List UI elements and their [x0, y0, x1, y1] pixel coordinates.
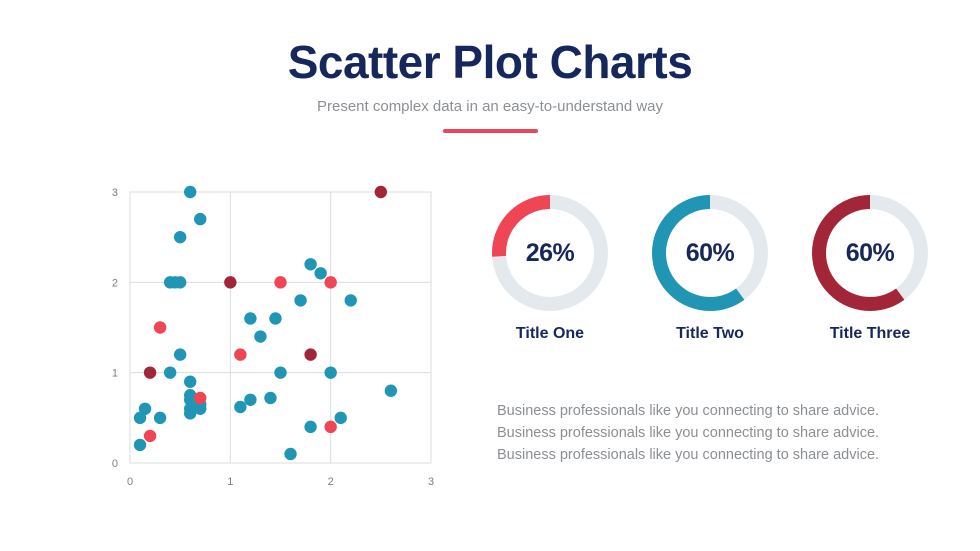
scatter-point — [164, 366, 176, 378]
scatter-point — [335, 412, 347, 424]
scatter-point — [154, 321, 166, 333]
plot-frame — [130, 192, 431, 463]
scatter-point — [184, 186, 196, 198]
page-subtitle: Present complex data in an easy-to-under… — [0, 86, 980, 115]
scatter-point — [385, 385, 397, 397]
scatter-point — [274, 276, 286, 288]
scatter-plot-svg: 01230123 — [100, 170, 460, 500]
scatter-point — [144, 430, 156, 442]
donut-chart-row: 26%Title One60%Title Two60%Title Three — [480, 195, 940, 360]
donut-ring: 26% — [492, 195, 608, 311]
scatter-chart: 01230123 — [100, 170, 460, 500]
scatter-point — [304, 258, 316, 270]
donut-ring: 60% — [812, 195, 928, 311]
scatter-point — [194, 392, 206, 404]
x-axis-tick-label: 0 — [127, 476, 133, 488]
slide-header: Scatter Plot Charts Present complex data… — [0, 0, 980, 133]
scatter-point — [134, 412, 146, 424]
scatter-point — [174, 231, 186, 243]
x-axis-tick-label: 3 — [428, 476, 434, 488]
scatter-point — [244, 394, 256, 406]
donut-chart-1[interactable]: 26%Title One — [480, 195, 620, 360]
donut-chart-2[interactable]: 60%Title Two — [640, 195, 780, 360]
scatter-point — [294, 294, 306, 306]
scatter-point — [269, 312, 281, 324]
scatter-point — [375, 186, 387, 198]
donut-chart-3[interactable]: 60%Title Three — [800, 195, 940, 360]
scatter-point — [174, 276, 186, 288]
scatter-point — [324, 421, 336, 433]
y-axis-tick-label: 0 — [112, 458, 118, 470]
scatter-point — [254, 330, 266, 342]
scatter-point — [194, 213, 206, 225]
scatter-point — [224, 276, 236, 288]
scatter-point — [244, 312, 256, 324]
scatter-point — [174, 348, 186, 360]
scatter-point — [345, 294, 357, 306]
scatter-point — [184, 376, 196, 388]
donut-percent-label: 60% — [812, 195, 928, 311]
scatter-point — [184, 407, 196, 419]
scatter-point — [264, 392, 276, 404]
x-axis-tick-label: 1 — [227, 476, 233, 488]
donut-percent-label: 60% — [652, 195, 768, 311]
scatter-point — [144, 366, 156, 378]
donut-ring: 60% — [652, 195, 768, 311]
donut-title-label: Title One — [480, 325, 620, 343]
scatter-point — [234, 348, 246, 360]
scatter-point — [154, 412, 166, 424]
scatter-point — [324, 366, 336, 378]
body-paragraph: Business professionals like you connecti… — [497, 400, 889, 467]
donut-title-label: Title Two — [640, 325, 780, 343]
scatter-point — [314, 267, 326, 279]
donut-title-label: Title Three — [800, 325, 940, 343]
scatter-point — [284, 448, 296, 460]
scatter-point — [304, 421, 316, 433]
scatter-point — [304, 348, 316, 360]
y-axis-tick-label: 3 — [112, 187, 118, 199]
scatter-point — [134, 439, 146, 451]
accent-divider — [443, 129, 538, 133]
x-axis-tick-label: 2 — [328, 476, 334, 488]
y-axis-tick-label: 2 — [112, 277, 118, 289]
scatter-point — [234, 401, 246, 413]
scatter-point — [274, 366, 286, 378]
donut-percent-label: 26% — [492, 195, 608, 311]
page-title: Scatter Plot Charts — [0, 0, 980, 86]
slide-canvas: Scatter Plot Charts Present complex data… — [0, 0, 980, 551]
scatter-point — [324, 276, 336, 288]
y-axis-tick-label: 1 — [112, 368, 118, 380]
